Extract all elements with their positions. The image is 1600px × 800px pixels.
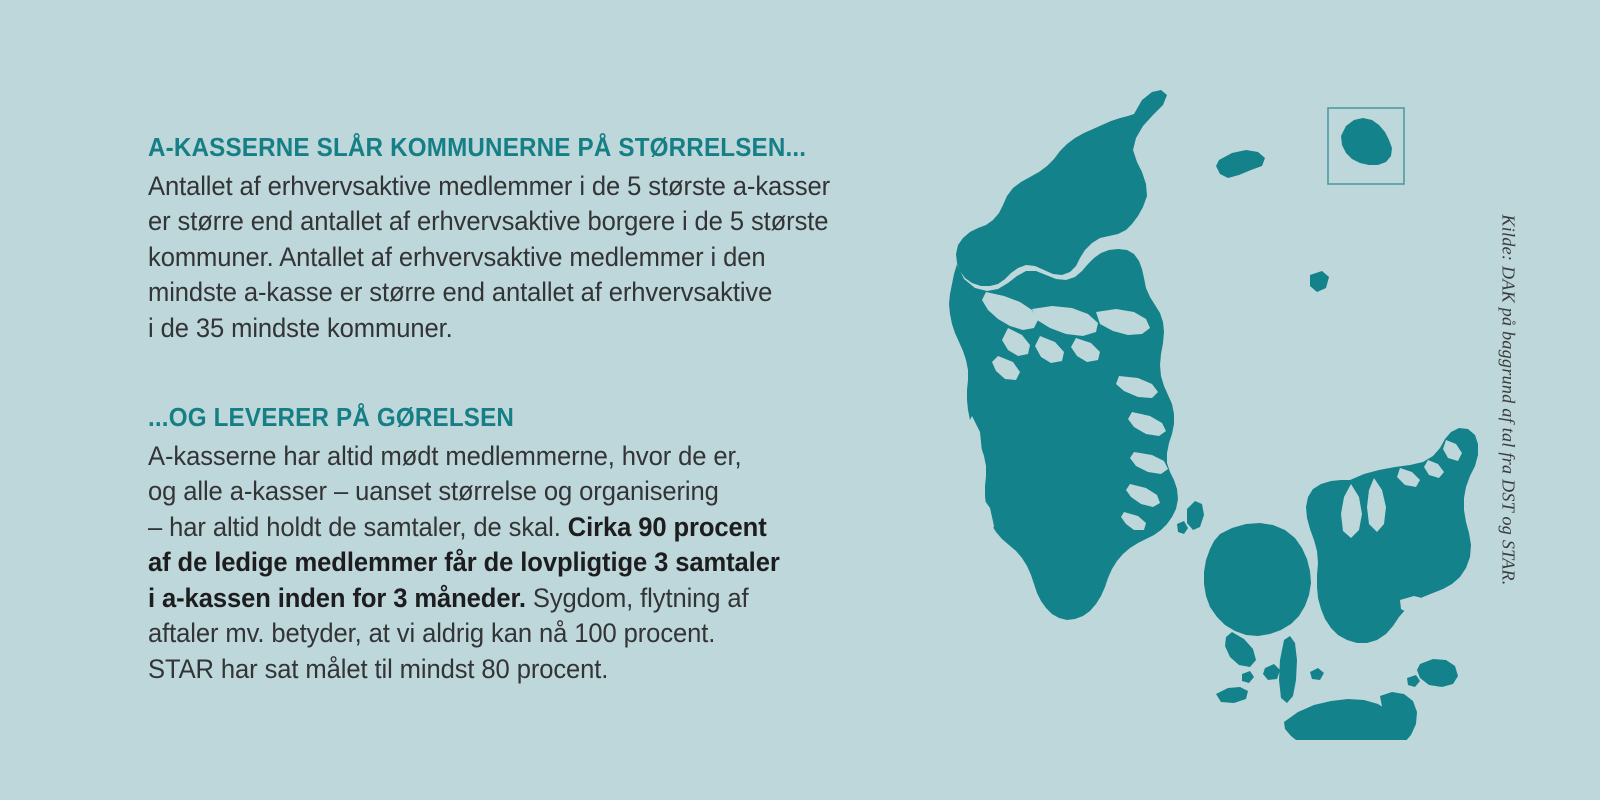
section-body-1: Antallet af erhvervsaktive medlemmer i d… [148, 169, 881, 347]
region-bornholm [1341, 118, 1392, 165]
region-zealand [1306, 428, 1478, 643]
section-og-leverer-paa-goerelsen: ...OG LEVERER PÅ GØRELSEN A-kasserne har… [148, 402, 908, 687]
island-taasinge [1263, 664, 1280, 680]
island-anholt [1310, 271, 1329, 292]
source-credit-container: Kilde: DAK på baggrund af tal fra DST og… [1496, 0, 1520, 800]
region-falster [1380, 692, 1417, 740]
body-line: er større end antallet af erhvervsaktive… [148, 204, 881, 240]
island-samso [1187, 501, 1204, 530]
region-lolland [1284, 699, 1396, 740]
region-mon [1417, 659, 1458, 687]
body-line: kommuner. Antallet af erhvervsaktive med… [148, 240, 881, 276]
funen-south-tail [1225, 632, 1256, 667]
map-land-shapes [949, 90, 1478, 740]
section-body-2: A-kasserne har altid mødt medlemmerne, h… [148, 439, 881, 688]
body-line-mixed: – har altid holdt de samtaler, de skal. … [148, 510, 881, 546]
body-line: Antallet af erhvervsaktive medlemmer i d… [148, 169, 881, 205]
denmark-map-svg [880, 60, 1480, 740]
body-line: mindste a-kasse er større end antallet a… [148, 275, 881, 311]
west-coast-nip [967, 560, 984, 588]
body-text-bold: i a-kassen inden for 3 måneder. [148, 583, 526, 613]
kattegat-islands [1216, 150, 1329, 292]
body-line: aftaler mv. betyder, at vi aldrig kan nå… [148, 616, 881, 652]
body-line: i de 35 mindste kommuner. [148, 311, 881, 347]
section-heading-2: ...OG LEVERER PÅ GØRELSEN [148, 402, 855, 433]
body-text-bold: Cirka 90 procent [568, 512, 767, 542]
island-laeso [1216, 150, 1265, 178]
island-fejo [1310, 668, 1324, 680]
infographic-canvas: A-KASSERNE SLÅR KOMMUNERNE PÅ STØRRELSEN… [0, 0, 1600, 800]
koge-bugt [1400, 596, 1432, 615]
body-line: STAR har sat målet til mindst 80 procent… [148, 652, 881, 688]
section-heading-1: A-KASSERNE SLÅR KOMMUNERNE PÅ STØRRELSEN… [148, 132, 855, 163]
section-a-kasserne-storrelsen: A-KASSERNE SLÅR KOMMUNERNE PÅ STØRRELSEN… [148, 132, 908, 346]
text-column: A-KASSERNE SLÅR KOMMUNERNE PÅ STØRRELSEN… [148, 132, 908, 687]
body-line: A-kasserne har altid mødt medlemmerne, h… [148, 439, 881, 475]
region-funen [1204, 523, 1311, 636]
island-endelave [1177, 521, 1188, 534]
island-lyo [1242, 671, 1254, 683]
island-langeland [1279, 636, 1297, 703]
region-mid-jutland [949, 249, 1178, 620]
island-aero [1216, 687, 1248, 703]
body-line-bold: af de ledige medlemmer får de lovpligtig… [148, 545, 881, 581]
denmark-map [880, 60, 1480, 740]
body-line-mixed: i a-kassen inden for 3 måneder. Sygdom, … [148, 581, 881, 617]
source-credit-text: Kilde: DAK på baggrund af tal fra DST og… [1498, 214, 1519, 585]
body-line: og alle a-kasser – uanset størrelse og o… [148, 474, 881, 510]
body-text-regular: – har altid holdt de samtaler, de skal. [148, 512, 568, 542]
island-bogo [1407, 675, 1420, 687]
body-text-regular: Sygdom, flytning af [526, 583, 749, 613]
